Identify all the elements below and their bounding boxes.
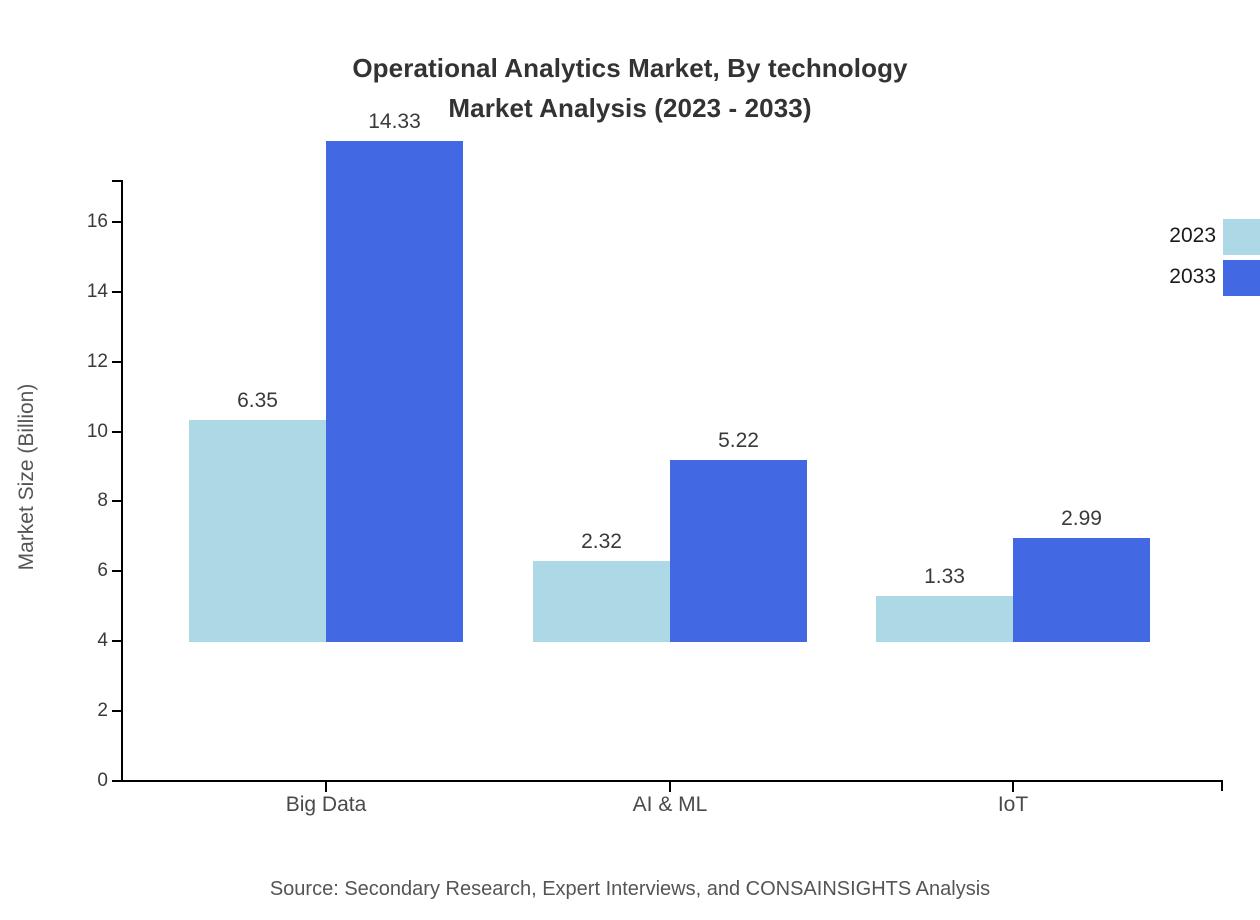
legend-item-2033[interactable]: 2033 bbox=[1128, 259, 1260, 300]
x-tick-mark bbox=[325, 782, 327, 792]
chart-legend: 20232033 bbox=[1128, 218, 1260, 300]
legend-item-2023[interactable]: 2023 bbox=[1128, 218, 1260, 259]
x-tick-mark bbox=[1012, 782, 1014, 792]
bar-2033-ai-ml[interactable]: 5.22 bbox=[670, 460, 807, 642]
bar-rect bbox=[1013, 538, 1150, 642]
legend-label: 2033 bbox=[1128, 265, 1216, 289]
legend-label: 2023 bbox=[1128, 224, 1216, 248]
source-note: Source: Secondary Research, Expert Inter… bbox=[0, 878, 1260, 901]
bar-2023-iot[interactable]: 1.33 bbox=[876, 596, 1013, 642]
bar-value-label: 14.33 bbox=[368, 110, 421, 134]
x-tick-mark bbox=[669, 782, 671, 792]
bar-value-label: 2.99 bbox=[1061, 507, 1102, 531]
bar-2033-iot[interactable]: 2.99 bbox=[1013, 538, 1150, 642]
x-tick-label-big-data: Big Data bbox=[176, 793, 476, 817]
x-axis-right-cap bbox=[1221, 780, 1223, 791]
chart-figure: Operational Analytics Market, By technol… bbox=[0, 0, 1260, 920]
bar-rect bbox=[533, 561, 670, 642]
bar-2033-big-data[interactable]: 14.33 bbox=[326, 141, 463, 642]
bar-2023-big-data[interactable]: 6.35 bbox=[189, 420, 326, 642]
bar-value-label: 1.33 bbox=[924, 565, 965, 589]
bar-rect bbox=[189, 420, 326, 642]
bar-value-label: 2.32 bbox=[581, 530, 622, 554]
bar-value-label: 6.35 bbox=[237, 389, 278, 413]
bar-rect bbox=[670, 460, 807, 642]
bar-2023-ai-ml[interactable]: 2.32 bbox=[533, 561, 670, 642]
bars-layer: 6.3514.332.325.221.332.99 bbox=[0, 0, 1260, 781]
legend-swatch bbox=[1223, 260, 1260, 296]
bar-rect bbox=[876, 596, 1013, 642]
x-tick-label-iot: IoT bbox=[863, 793, 1163, 817]
bar-rect bbox=[326, 141, 463, 642]
legend-swatch bbox=[1223, 219, 1260, 255]
bar-value-label: 5.22 bbox=[718, 429, 759, 453]
x-tick-label-ai-ml: AI & ML bbox=[520, 793, 820, 817]
